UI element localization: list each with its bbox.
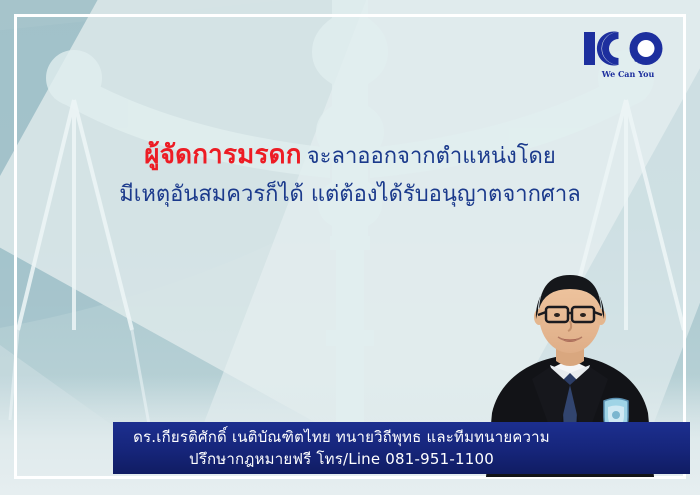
poster-root: INTER LAW We Can You ผู้จัดการมรดก จะลาอ… (0, 0, 700, 495)
headline-line-1-rest: จะลาออกจากตำแหน่งโดย (307, 144, 556, 169)
ico-inter-law-logo: INTER LAW We Can You (582, 26, 674, 82)
logo-tagline: We Can You (601, 69, 655, 79)
contact-banner-line-1: ดร.เกียรติศักดิ์ เนติบัณฑิตไทย ทนายวิถีพ… (133, 426, 550, 449)
headline-block: ผู้จัดการมรดก จะลาออกจากตำแหน่งโดย มีเหต… (0, 138, 700, 210)
contact-banner-line-2: ปรึกษากฎหมายฟรี โทร/Line 081-951-1100 (189, 448, 494, 471)
headline-highlight: ผู้จัดการมรดก (144, 140, 301, 170)
contact-banner: ดร.เกียรติศักดิ์ เนติบัณฑิตไทย ทนายวิถีพ… (113, 422, 690, 474)
headline-line-1: ผู้จัดการมรดก จะลาออกจากตำแหน่งโดย (0, 138, 700, 174)
headline-line-2: มีเหตุอันสมควรก็ได้ แต่ต้องได้รับอนุญาตจ… (0, 180, 700, 210)
